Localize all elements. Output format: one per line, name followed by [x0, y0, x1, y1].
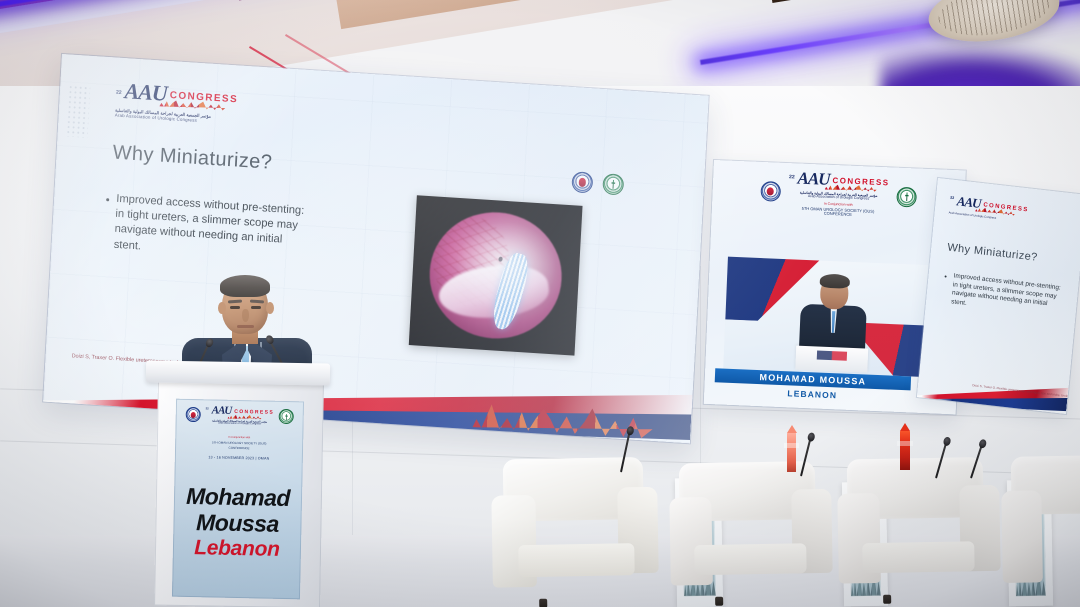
chair-1-leg — [539, 599, 547, 607]
urology-society-emblem-blue-icon — [571, 171, 593, 193]
side-emblem-blue-icon — [760, 181, 781, 202]
right-monitor-title: Why Miniaturize? — [947, 242, 1038, 264]
speaker-eye-right — [251, 306, 261, 309]
right-edition-number: 22 — [950, 197, 954, 201]
conference-stage-scene: 22 AAU CONGRESS مؤتمر الجمعية العربية لج… — [0, 0, 1080, 607]
chair-1-seat-cushion — [518, 543, 635, 577]
podium-speaker-first-name: Mohamad — [174, 483, 303, 513]
stage-chair-4[interactable] — [1001, 455, 1080, 607]
screen-dot-matrix-decor — [66, 84, 91, 137]
decor-tower-pink — [787, 432, 796, 472]
video-podium — [795, 346, 868, 373]
endoscopic-image-figure — [409, 195, 583, 355]
podium-speaker-country: Lebanon — [173, 536, 301, 563]
podium-aau-logo: 22 AAU CONGRESS مؤتمر الجمعية العربية لج… — [205, 405, 274, 426]
side-monitor-header: 22 AAU CONGRESS مؤتمر الجمعية العربية لج… — [718, 166, 960, 221]
chair-2-seat-cushion — [694, 543, 807, 575]
right-monitor-bullet-text: Improved access without pre-stenting: in… — [951, 272, 1063, 319]
speaker-nose — [242, 309, 249, 322]
speaker-mouth — [237, 325, 254, 328]
chair-3-leg — [883, 595, 891, 604]
podium-emblem-green-icon — [279, 409, 294, 424]
video-podium-logo — [817, 350, 847, 360]
side-monitor-speaker-name: MOHAMAD MOUSSA — [759, 372, 866, 386]
slide-bullet-text: Improved access without pre-stenting: in… — [113, 192, 312, 265]
podium-speaker-last-name: Moussa — [173, 509, 302, 539]
chair-3-seat-cushion — [862, 541, 975, 573]
stage-chair-1[interactable] — [491, 456, 684, 607]
slide-emblem-group — [571, 171, 624, 195]
pendant-light-fixture — [924, 0, 1063, 50]
right-monitor-slide-mirror[interactable]: 22 AAU CONGRESS Arab Association of Urol… — [917, 178, 1080, 414]
decor-tower-red — [900, 430, 910, 470]
podium-top-surface — [146, 360, 330, 385]
side-congress-word: CONGRESS — [832, 177, 889, 187]
stage-chair-2[interactable] — [669, 460, 858, 607]
right-monitor-aau-logo: 22 AAU CONGRESS Arab Association of Urol… — [949, 194, 1030, 224]
main-projection-screen[interactable]: 22 AAU CONGRESS مؤتمر الجمعية العربية لج… — [43, 54, 709, 443]
podium-date-location: 13 - 16 NOVEMBER 2023 | OMAN — [175, 455, 303, 462]
side-edition-number: 22 — [789, 175, 795, 180]
right-aau-acronym: AAU — [956, 194, 981, 210]
chair-2-leg — [715, 597, 723, 606]
bullet-dot-icon — [106, 198, 109, 201]
side-emblem-green-icon — [896, 186, 917, 207]
side-aau-acronym: AAU — [797, 170, 830, 188]
podium-edition-number: 22 — [206, 408, 209, 411]
speaker-podium: 22 AAU CONGRESS مؤتمر الجمعية العربية لج… — [152, 362, 324, 607]
aau-logo-main-slide: 22 AAU CONGRESS مؤتمر الجمعية العربية لج… — [115, 80, 239, 126]
right-bullet-dot-icon — [945, 275, 947, 277]
speaker-video-thumbnail — [723, 257, 944, 378]
podium-emblem-blue-icon — [185, 407, 200, 422]
podium-congress-word: CONGRESS — [234, 410, 274, 416]
aau-edition-number: 22 — [116, 91, 122, 96]
podium-aau-acronym: AAU — [212, 405, 232, 416]
podium-logo-row: 22 AAU CONGRESS مؤتمر الجمعية العربية لج… — [176, 405, 304, 428]
speaker-ear-left — [218, 302, 226, 314]
speaker-eye-left — [230, 306, 240, 309]
aau-acronym: AAU — [124, 80, 167, 105]
video-speaker-hair — [820, 273, 851, 288]
side-aau-logo: 22 AAU CONGRESS مؤتمر الجمعية العربية لج… — [788, 169, 890, 219]
urology-society-emblem-green-icon — [602, 173, 624, 195]
chair-4-armrest-left — [1001, 490, 1043, 583]
video-speaker-figure — [789, 275, 879, 355]
speaker-hair — [220, 275, 270, 297]
speaker-ear-right — [266, 302, 274, 314]
endoscopic-light-glow — [409, 195, 583, 355]
stage-chair-3[interactable] — [837, 456, 1026, 607]
podium-name-placard: 22 AAU CONGRESS مؤتمر الجمعية العربية لج… — [172, 399, 304, 600]
right-monitor-bullet: Improved access without pre-stenting: in… — [942, 271, 1063, 319]
